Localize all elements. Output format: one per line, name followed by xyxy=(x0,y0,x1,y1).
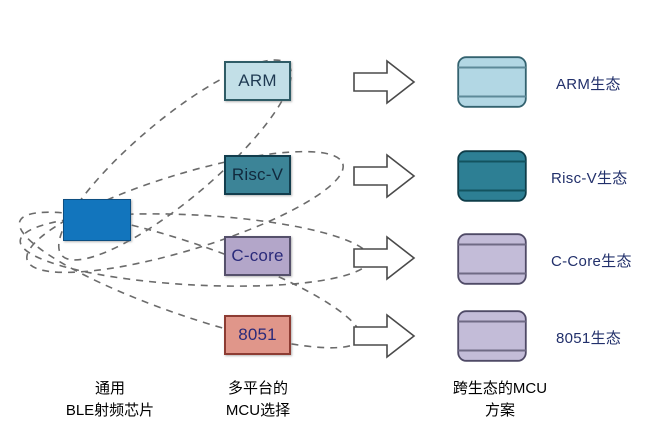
diagram-canvas: ARM Risc-V C-core 8051 xyxy=(0,0,672,445)
mcu-box-label: 8051 xyxy=(238,325,277,345)
arrow-arm xyxy=(352,58,416,106)
caption-right-line2: 方案 xyxy=(405,400,595,422)
caption-middle: 多平台的 MCU选择 xyxy=(178,378,338,422)
mcu-box-label: Risc-V xyxy=(232,165,283,185)
caption-right: 跨生态的MCU 方案 xyxy=(405,378,595,422)
caption-middle-line1: 多平台的 xyxy=(178,378,338,400)
mcu-box-riscv[interactable]: Risc-V xyxy=(224,155,291,195)
caption-left: 通用 BLE射频芯片 xyxy=(20,378,200,422)
ble-rf-chip[interactable] xyxy=(63,199,131,241)
eco-shape-8051[interactable] xyxy=(457,310,527,362)
arrow-ccore xyxy=(352,234,416,282)
eco-label-ccore: C-Core生态 xyxy=(551,250,632,271)
arrow-8051 xyxy=(352,312,416,360)
mcu-box-label: C-core xyxy=(231,246,283,266)
eco-label-8051: 8051生态 xyxy=(556,327,621,348)
eco-shape-riscv[interactable] xyxy=(457,150,527,202)
eco-shape-ccore[interactable] xyxy=(457,233,527,285)
eco-label-riscv: Risc-V生态 xyxy=(551,167,628,188)
caption-left-line1: 通用 xyxy=(20,378,200,400)
caption-right-line1: 跨生态的MCU xyxy=(405,378,595,400)
mcu-box-ccore[interactable]: C-core xyxy=(224,236,291,276)
mcu-box-8051[interactable]: 8051 xyxy=(224,315,291,355)
eco-shape-arm[interactable] xyxy=(457,56,527,108)
mcu-box-label: ARM xyxy=(238,71,276,91)
caption-left-line2: BLE射频芯片 xyxy=(20,400,200,422)
mcu-box-arm[interactable]: ARM xyxy=(224,61,291,101)
eco-label-arm: ARM生态 xyxy=(556,73,621,94)
caption-middle-line2: MCU选择 xyxy=(178,400,338,422)
arrow-riscv xyxy=(352,152,416,200)
